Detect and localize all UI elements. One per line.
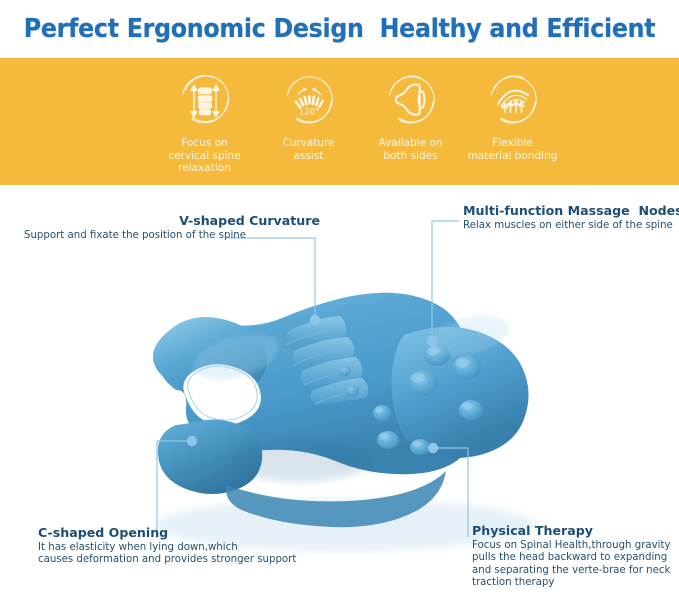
feature-item-flexible-material: Flexible material bonding bbox=[462, 68, 563, 175]
callout-heading-c-shaped-opening: C-shaped Opening bbox=[38, 525, 338, 540]
feature-caption-curvature: Curvature assist bbox=[282, 137, 334, 162]
feature-item-curvature: 120° Curvature assist bbox=[258, 68, 359, 175]
feature-item-both-sides: Available on both sides bbox=[360, 68, 461, 175]
feature-banner: Focus on cervical spine relaxation bbox=[0, 58, 679, 185]
callout-heading-v-shaped-curvature: V-shaped Curvature bbox=[24, 213, 324, 228]
callout-body-v-shaped-curvature: Support and fixate the position of the s… bbox=[24, 230, 324, 242]
both-sides-shape-icon bbox=[380, 68, 442, 130]
callout-body-physical-therapy: Focus on Spinal Health,through gravity p… bbox=[472, 540, 679, 590]
callout-heading-massage-nodes: Multi-function Massage Nodes bbox=[463, 203, 679, 218]
flexible-material-arch-icon bbox=[482, 68, 544, 130]
spine-stretch-icon bbox=[174, 68, 236, 130]
feature-item-spine: Focus on cervical spine relaxation bbox=[152, 68, 257, 175]
feature-caption-flexible-material: Flexible material bonding bbox=[468, 137, 558, 162]
callout-multi-function-massage-nodes: Multi-function Massage Nodes Relax muscl… bbox=[463, 203, 679, 232]
callout-body-c-shaped-opening: It has elasticity when lying down,which … bbox=[38, 542, 338, 567]
svg-text:120°: 120° bbox=[298, 108, 319, 118]
callout-v-shaped-curvature: V-shaped Curvature Support and fixate th… bbox=[24, 213, 324, 242]
callout-physical-therapy: Physical Therapy Focus on Spinal Health,… bbox=[472, 523, 679, 590]
callout-c-shaped-opening: C-shaped Opening It has elasticity when … bbox=[38, 525, 338, 567]
product-callout-area: V-shaped Curvature Support and fixate th… bbox=[0, 185, 679, 600]
feature-list: Focus on cervical spine relaxation bbox=[0, 58, 679, 175]
callout-heading-physical-therapy: Physical Therapy bbox=[472, 523, 679, 538]
feature-caption-spine: Focus on cervical spine relaxation bbox=[152, 137, 257, 175]
page-title: Perfect Ergonomic Design Healthy and Eff… bbox=[24, 14, 656, 44]
product-infographic: Perfect Ergonomic Design Healthy and Eff… bbox=[0, 0, 679, 600]
feature-caption-both-sides: Available on both sides bbox=[379, 137, 443, 162]
page-title-bar: Perfect Ergonomic Design Healthy and Eff… bbox=[0, 0, 679, 58]
callout-body-massage-nodes: Relax muscles on either side of the spin… bbox=[463, 220, 679, 232]
curvature-120-degree-icon: 120° bbox=[278, 68, 340, 130]
